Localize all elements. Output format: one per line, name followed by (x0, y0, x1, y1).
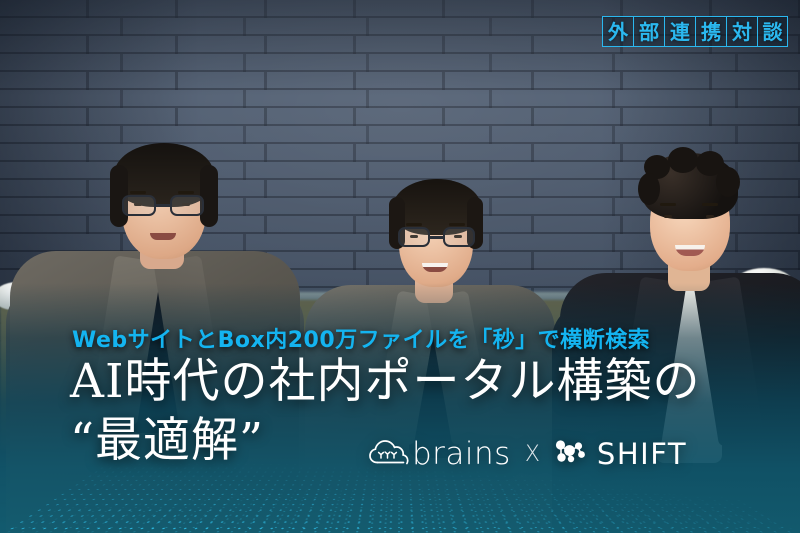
shift-logo[interactable]: SHIFT (554, 438, 687, 471)
molecule-nodes-icon (554, 438, 588, 471)
person-right-brow-left (660, 203, 676, 206)
person-center-lens-left (398, 227, 430, 247)
cloud-icon (368, 437, 410, 472)
badge-char: 談 (757, 16, 788, 47)
person-center-lens-right (443, 227, 475, 247)
person-center-brow-left (406, 223, 422, 226)
person-left-glasses-bridge (156, 204, 171, 207)
person-left-lens-right (170, 195, 204, 216)
person-right-curl-4 (716, 167, 740, 197)
badge-char: 連 (664, 16, 695, 47)
person-right-eye-right (706, 215, 714, 218)
badge-char: 対 (726, 16, 757, 47)
person-left-glasses (120, 195, 208, 217)
badge-char: 外 (602, 16, 633, 47)
brains-wordmark: brains (412, 439, 511, 470)
person-center-brow-right (449, 223, 465, 226)
title-line-1: AI時代の社内ポータル構築の (70, 354, 701, 409)
person-center-glasses-bridge (430, 236, 443, 239)
badge-char: 携 (695, 16, 726, 47)
hero-banner: 外 部 連 携 対 談 WebサイトとBox内200万ファイルを「秒」で横断検索… (0, 0, 800, 533)
shift-wordmark: SHIFT (597, 440, 687, 469)
person-right-curl-5 (638, 173, 660, 205)
brains-logo[interactable]: brains (368, 437, 511, 472)
subtitle: WebサイトとBox内200万ファイルを「秒」で横断検索 (72, 322, 650, 354)
category-badge: 外 部 連 携 対 談 (602, 16, 788, 47)
logo-lockup: brains X SHIFT (368, 437, 687, 472)
person-left-mouth (150, 233, 176, 240)
logo-separator-x: X (525, 444, 540, 466)
person-left-lens-left (122, 195, 156, 216)
person-left-brow-left (130, 191, 146, 194)
person-left-brow-right (178, 191, 194, 194)
person-right-brow-right (702, 203, 718, 206)
person-right-eye-left (664, 215, 672, 218)
person-right-curl-2 (668, 147, 698, 173)
badge-char: 部 (633, 16, 664, 47)
person-center-glasses (397, 227, 477, 248)
